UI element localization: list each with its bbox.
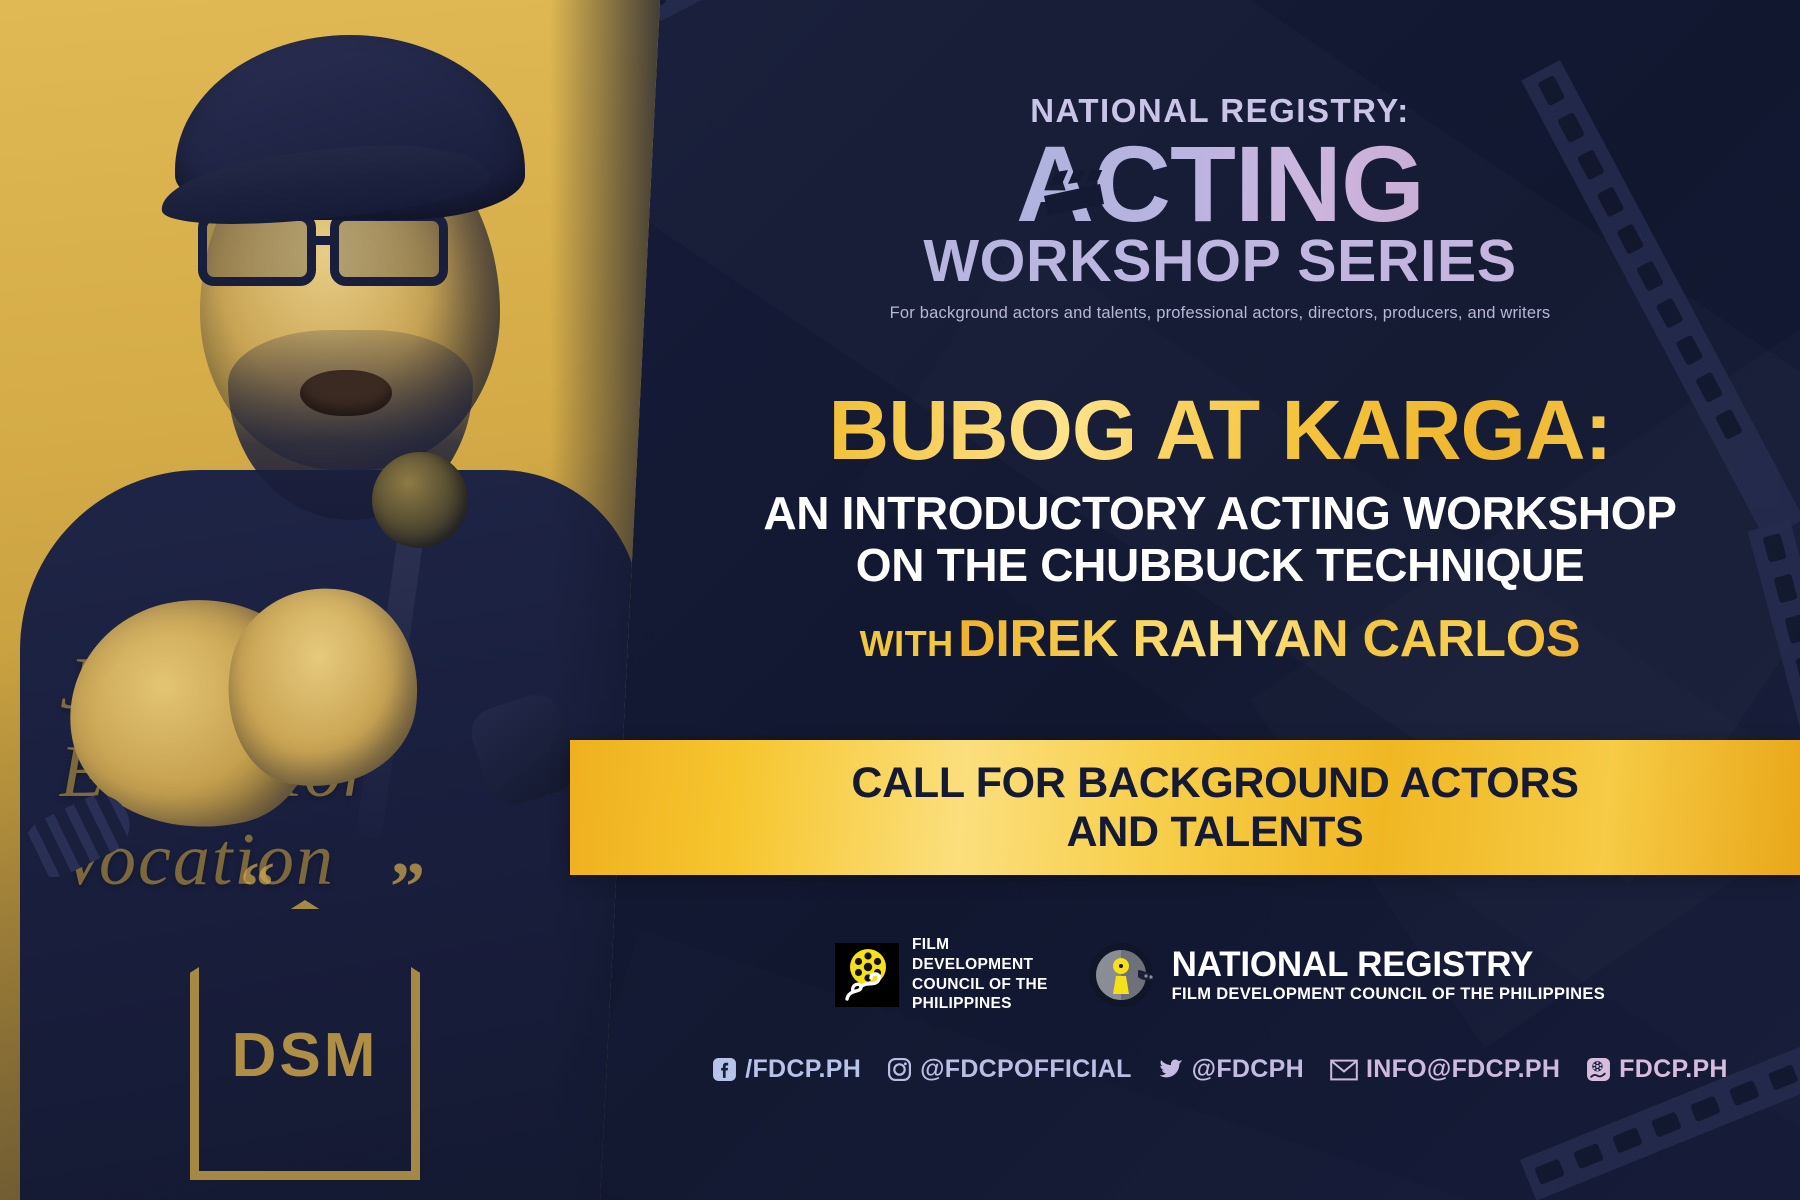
fdcp-app-icon [1586, 1057, 1611, 1082]
workshop-subtitle-line-2: ON THE CHUBBUCK TECHNIQUE [640, 540, 1800, 592]
speaker-name: DIREK RAHYAN CARLOS [958, 610, 1580, 668]
cta-line-1: CALL FOR BACKGROUND ACTORS [851, 759, 1578, 808]
speaker-mouth [300, 370, 392, 416]
national-registry-text: NATIONAL REGISTRY FILM DEVELOPMENT COUNC… [1172, 947, 1605, 1003]
content-column: NATIONAL REGISTRY: ACTING WORKSHOP SERIE… [640, 0, 1800, 1200]
facebook-handle: /FDCP.PH [745, 1055, 861, 1084]
eyeglasses-bridge [314, 236, 338, 245]
workshop-title: BUBOG AT KARGA: [640, 388, 1800, 472]
poster-canvas: Justice Education Vocation “ ” DSM NATIO… [0, 0, 1800, 1200]
facebook-icon [712, 1057, 737, 1082]
with-label: WITH [860, 623, 954, 664]
cta-text: CALL FOR BACKGROUND ACTORS AND TALENTS [791, 759, 1578, 856]
film-reel-icon [835, 943, 899, 1007]
email-address: INFO@FDCP.PH [1366, 1055, 1560, 1084]
shirt-badge-text: DSM [190, 1020, 420, 1091]
twitter-icon [1158, 1057, 1184, 1082]
fdcp-logo-lockup: FILM DEVELOPMENT COUNCIL OF THE PHILIPPI… [835, 935, 1048, 1014]
social-link-facebook[interactable]: /FDCP.PH [712, 1055, 861, 1084]
twitter-handle: @FDCPH [1192, 1055, 1304, 1084]
fdcp-logo-text: FILM DEVELOPMENT COUNCIL OF THE PHILIPPI… [912, 935, 1048, 1014]
national-registry-subtitle: FILM DEVELOPMENT COUNCIL OF THE PHILIPPI… [1172, 986, 1605, 1003]
acting-wordmark-text: ACTING [1016, 123, 1424, 244]
workshop-subtitle-line-1: AN INTRODUCTORY ACTING WORKSHOP [640, 488, 1800, 540]
cta-line-2: AND TALENTS [851, 808, 1578, 857]
social-link-instagram[interactable]: @FDCPOFFICIAL [887, 1055, 1132, 1084]
shirt-quote-right: ” [390, 848, 425, 928]
program-lockup: NATIONAL REGISTRY: ACTING WORKSHOP SERIE… [640, 92, 1800, 323]
social-link-email[interactable]: INFO@FDCP.PH [1330, 1055, 1560, 1084]
audience-line: For background actors and talents, profe… [640, 304, 1800, 323]
instagram-handle: @FDCPOFFICIAL [920, 1055, 1132, 1084]
shirt-quote-left: “ [240, 848, 275, 928]
speaker-line: WITH DIREK RAHYAN CARLOS [640, 613, 1800, 665]
logo-row: FILM DEVELOPMENT COUNCIL OF THE PHILIPPI… [640, 935, 1800, 1014]
national-registry-seal-icon [1088, 940, 1158, 1010]
national-registry-logo-lockup: NATIONAL REGISTRY FILM DEVELOPMENT COUNC… [1088, 940, 1605, 1010]
email-icon [1330, 1059, 1358, 1081]
instagram-icon [887, 1057, 912, 1082]
workshop-subtitle: AN INTRODUCTORY ACTING WORKSHOP ON THE C… [640, 488, 1800, 591]
microphone-icon [372, 452, 468, 548]
social-link-website[interactable]: FDCP.PH [1586, 1055, 1728, 1084]
acting-wordmark: ACTING [1016, 132, 1424, 236]
social-link-twitter[interactable]: @FDCPH [1158, 1055, 1304, 1084]
speaker-photo: Justice Education Vocation “ ” DSM [0, 0, 680, 1200]
national-registry-title: NATIONAL REGISTRY [1172, 947, 1605, 982]
call-for-actors-banner: CALL FOR BACKGROUND ACTORS AND TALENTS [570, 740, 1800, 875]
social-links-row: /FDCP.PH @FDCPOFFICIAL [640, 1055, 1800, 1084]
title-block: BUBOG AT KARGA: AN INTRODUCTORY ACTING W… [640, 388, 1800, 665]
eyeglasses-right-lens [330, 212, 448, 286]
website-handle: FDCP.PH [1619, 1055, 1728, 1084]
